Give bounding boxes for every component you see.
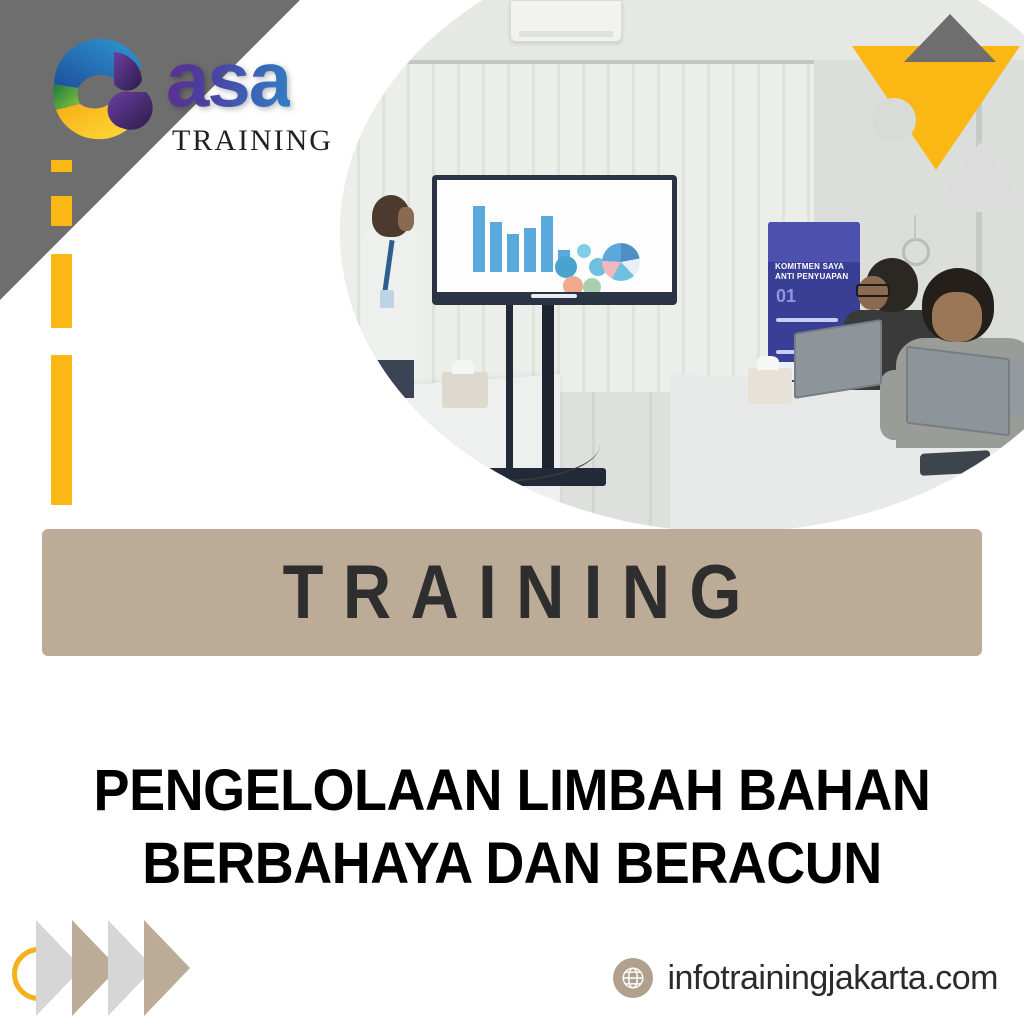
training-band: TRAINING — [42, 529, 982, 656]
laptop-3 — [1010, 359, 1024, 421]
rollup-banner-item-1: 01 — [776, 286, 796, 307]
rollup-banner-headline: KOMITMEN SAYA ANTI PENYUAPAN — [775, 262, 855, 282]
participant-1-glasses — [856, 284, 890, 297]
page-title-line-1: PENGELOLAAN LIMBAH BAHAN — [36, 755, 988, 828]
presenter-face — [398, 207, 414, 231]
dash-segment-2 — [51, 196, 72, 226]
triangle-grey-icon — [904, 14, 996, 62]
footer-website[interactable]: infotrainingjakarta.com — [613, 958, 998, 998]
training-band-label: TRAINING — [98, 529, 925, 656]
website-url: infotrainingjakarta.com — [667, 959, 998, 998]
display-taskbar — [437, 292, 672, 300]
smartphone-on-table — [920, 450, 990, 476]
dash-segment-3 — [51, 254, 72, 328]
poster-canvas: KOMITMEN SAYA ANTI PENYUAPAN 01 02 — [0, 0, 1024, 1024]
rollup-banner-header — [768, 222, 860, 262]
globe-icon — [613, 958, 653, 998]
page-title-line-2: BERBAHAYA DAN BERACUN — [36, 828, 988, 901]
dash-segment-4 — [51, 355, 72, 505]
triangle-white-icon — [934, 142, 1024, 212]
presentation-display — [432, 175, 677, 305]
air-conditioner — [510, 0, 622, 42]
laptop-1 — [794, 319, 882, 399]
logo-wordmark: asa — [166, 48, 290, 110]
brand-logo[interactable]: asa TRAINING — [30, 18, 330, 158]
circle-grey-icon — [872, 98, 916, 142]
page-title: PENGELOLAAN LIMBAH BAHAN BERBAHAYA DAN B… — [36, 755, 988, 900]
circular-gradient-c-logo-icon — [30, 18, 170, 158]
rollup-banner-rule-1 — [776, 318, 838, 322]
dashboard-pie-chart — [602, 243, 640, 281]
chevron-arrow-4-icon — [144, 920, 190, 1016]
presenter-trousers — [368, 360, 414, 398]
hanging-ring — [902, 238, 930, 266]
dash-segment-1 — [51, 160, 72, 172]
participant-2-face — [932, 292, 982, 342]
laptop-2 — [906, 346, 1010, 437]
logo-subtitle: TRAINING — [172, 124, 333, 158]
display-screen — [437, 180, 672, 300]
presenter-badge — [380, 290, 394, 308]
tissue-box-right — [748, 368, 792, 404]
tissue-box-left — [442, 372, 488, 408]
